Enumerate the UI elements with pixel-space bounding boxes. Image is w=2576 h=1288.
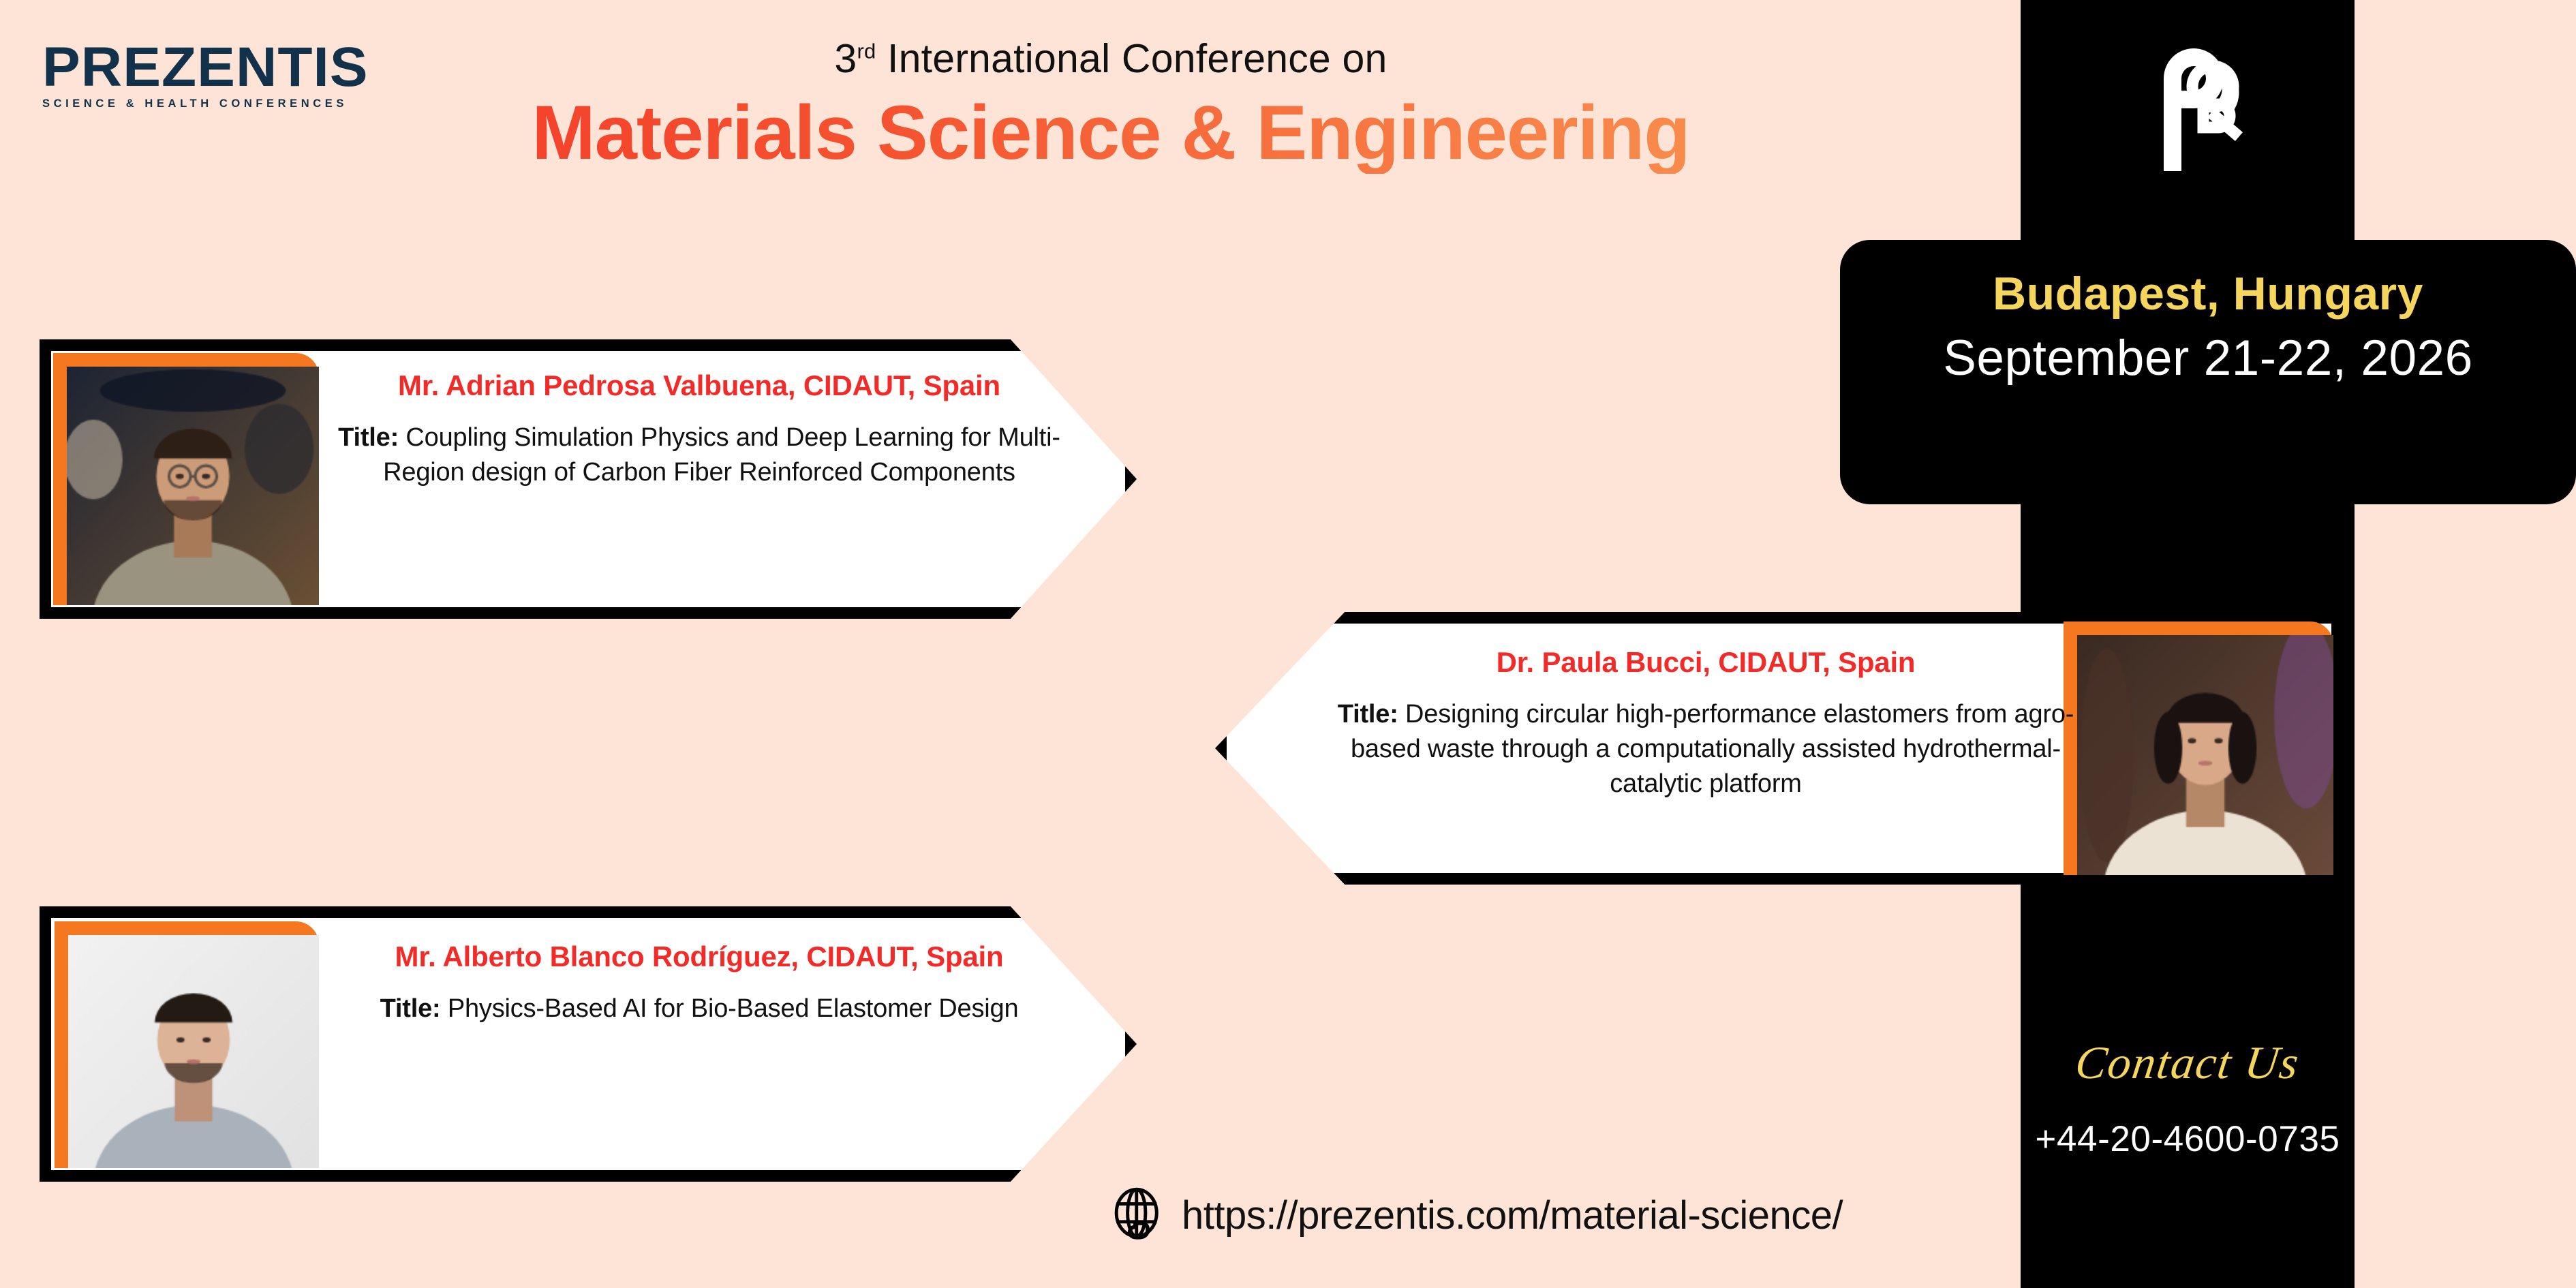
title-label: Title: bbox=[338, 423, 399, 452]
speaker-photo bbox=[67, 367, 319, 605]
contact-phone[interactable]: +44-20-4600-0735 bbox=[2021, 1118, 2355, 1160]
title-label: Title: bbox=[380, 994, 441, 1023]
venue-city: Budapest, Hungary bbox=[1840, 267, 2576, 320]
conference-title: Materials Science & Engineering bbox=[436, 93, 1785, 174]
speaker-name: Dr. Paula Bucci, CIDAUT, Spain bbox=[1331, 645, 2081, 679]
speaker-photo-frame bbox=[2064, 622, 2333, 875]
speaker-name: Mr. Adrian Pedrosa Valbuena, CIDAUT, Spa… bbox=[324, 368, 1074, 403]
contact-heading: Contact Us bbox=[2017, 1036, 2358, 1090]
speaker-name: Mr. Alberto Blanco Rodríguez, CIDAUT, Sp… bbox=[324, 939, 1074, 974]
venue-info: Budapest, Hungary September 21-22, 2026 bbox=[1840, 267, 2576, 386]
speaker-talk-title: Title: Designing circular high-performan… bbox=[1331, 697, 2081, 801]
venue-dates: September 21-22, 2026 bbox=[1840, 330, 2576, 386]
prezentis-pr-monogram-icon bbox=[2150, 37, 2259, 174]
title-text: Physics-Based AI for Bio-Based Elastomer… bbox=[441, 994, 1019, 1023]
speaker-talk-title: Title: Physics-Based AI for Bio-Based El… bbox=[324, 992, 1074, 1026]
globe-icon bbox=[1111, 1187, 1167, 1243]
website-row[interactable]: https://prezentis.com/material-science/ bbox=[1111, 1187, 1843, 1243]
website-url[interactable]: https://prezentis.com/material-science/ bbox=[1182, 1193, 1843, 1238]
speaker-photo bbox=[68, 935, 319, 1168]
edition-ordinal: rd bbox=[857, 39, 876, 63]
prezentis-logo: PREZENTIS SCIENCE & HEALTH CONFERENCES bbox=[42, 41, 397, 110]
speaker-card-paula: Dr. Paula Bucci, CIDAUT, Spain Title: De… bbox=[1215, 612, 2343, 885]
speaker-photo bbox=[2077, 635, 2333, 875]
edition-number: 3 bbox=[834, 36, 857, 81]
speaker-photo-frame bbox=[53, 353, 319, 605]
brand-wordmark: PREZENTIS bbox=[42, 41, 403, 94]
title-text: Coupling Simulation Physics and Deep Lea… bbox=[383, 423, 1060, 487]
brand-tagline: SCIENCE & HEALTH CONFERENCES bbox=[42, 97, 397, 110]
title-label: Title: bbox=[1338, 700, 1398, 729]
title-text: Designing circular high-performance elas… bbox=[1351, 700, 2074, 798]
conference-edition-line: 3rd International Conference on bbox=[436, 35, 1785, 82]
contact-section: Contact Us +44-20-4600-0735 bbox=[2021, 1036, 2355, 1160]
speaker-card-alberto: Mr. Alberto Blanco Rodríguez, CIDAUT, Sp… bbox=[40, 906, 1137, 1182]
speaker-talk-title: Title: Coupling Simulation Physics and D… bbox=[324, 420, 1074, 490]
edition-suffix: International Conference on bbox=[876, 36, 1387, 81]
conference-header: 3rd International Conference on Material… bbox=[436, 35, 1785, 174]
speaker-card-adrian: Mr. Adrian Pedrosa Valbuena, CIDAUT, Spa… bbox=[40, 339, 1137, 619]
speaker-text: Dr. Paula Bucci, CIDAUT, Spain Title: De… bbox=[1331, 645, 2081, 801]
poster-canvas: PREZENTIS SCIENCE & HEALTH CONFERENCES 3… bbox=[0, 0, 2576, 1288]
speaker-photo-frame bbox=[55, 921, 319, 1168]
speaker-text: Mr. Alberto Blanco Rodríguez, CIDAUT, Sp… bbox=[324, 939, 1074, 1026]
speaker-text: Mr. Adrian Pedrosa Valbuena, CIDAUT, Spa… bbox=[324, 368, 1074, 490]
